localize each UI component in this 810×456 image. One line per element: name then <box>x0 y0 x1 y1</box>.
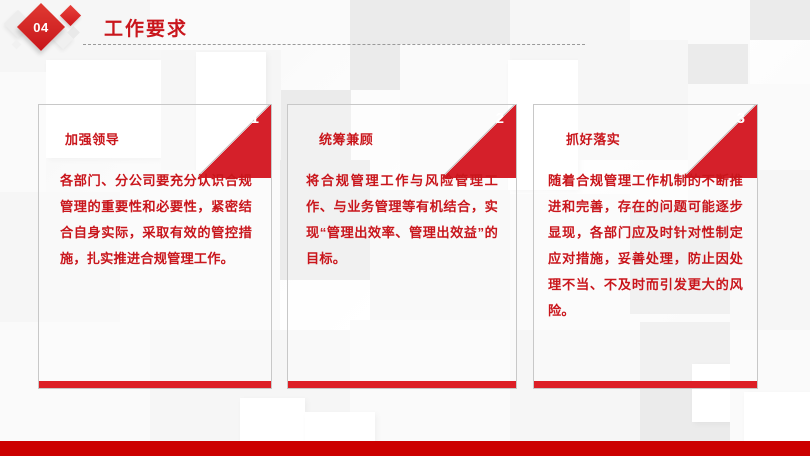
bg-block <box>630 0 750 110</box>
card-body: 随着合规管理工作机制的不断推进和完善，存在的问题可能逐步显现，各部门应及时针对性… <box>548 168 743 324</box>
card-title: 统筹兼顾 <box>319 129 373 148</box>
bg-block <box>750 0 810 40</box>
corner-fold-line-icon <box>198 104 272 178</box>
card-body: 将合规管理工作与风险管理工作、与业务管理等有机结合，实现“管理出效率、管理出效益… <box>306 168 498 272</box>
card-number: 2 <box>496 111 504 126</box>
bg-block <box>744 392 810 442</box>
diamond-accent-icon <box>60 5 81 26</box>
card-accent-bar <box>39 381 271 388</box>
card-number: 1 <box>251 111 259 126</box>
section-number-badge: 04 <box>0 0 120 62</box>
page-title: 工作要求 <box>104 14 188 41</box>
card-accent-bar <box>534 381 757 388</box>
footer-band <box>0 441 810 456</box>
card-title: 抓好落实 <box>566 129 620 148</box>
requirement-card-3[interactable]: 3 抓好落实 随着合规管理工作机制的不断推进和完善，存在的问题可能逐步显现，各部… <box>533 104 758 389</box>
card-body: 各部门、分公司要充分认识合规管理的重要性和必要性，紧密结合自身实际，采取有效的管… <box>60 168 252 272</box>
bg-block <box>305 412 375 442</box>
slide-canvas: 04 工作要求 1 加强领导 各部门、分公司要充分认识合规管理的重要性和必要性，… <box>0 0 810 456</box>
bg-block <box>350 0 510 90</box>
requirement-card-1[interactable]: 1 加强领导 各部门、分公司要充分认识合规管理的重要性和必要性，紧密结合自身实际… <box>38 104 272 389</box>
diamond-decoration-icon <box>12 40 22 50</box>
corner-fold-line-icon <box>684 104 758 178</box>
bg-block <box>510 0 630 60</box>
card-title: 加强领导 <box>65 129 119 148</box>
corner-fold-line-icon <box>443 104 517 178</box>
title-divider <box>83 44 585 45</box>
requirement-card-2[interactable]: 2 统筹兼顾 将合规管理工作与风险管理工作、与业务管理等有机结合，实现“管理出效… <box>287 104 517 389</box>
section-number: 04 <box>24 10 58 44</box>
card-number: 3 <box>737 111 745 126</box>
bg-block <box>240 398 305 442</box>
card-accent-bar <box>288 381 516 388</box>
